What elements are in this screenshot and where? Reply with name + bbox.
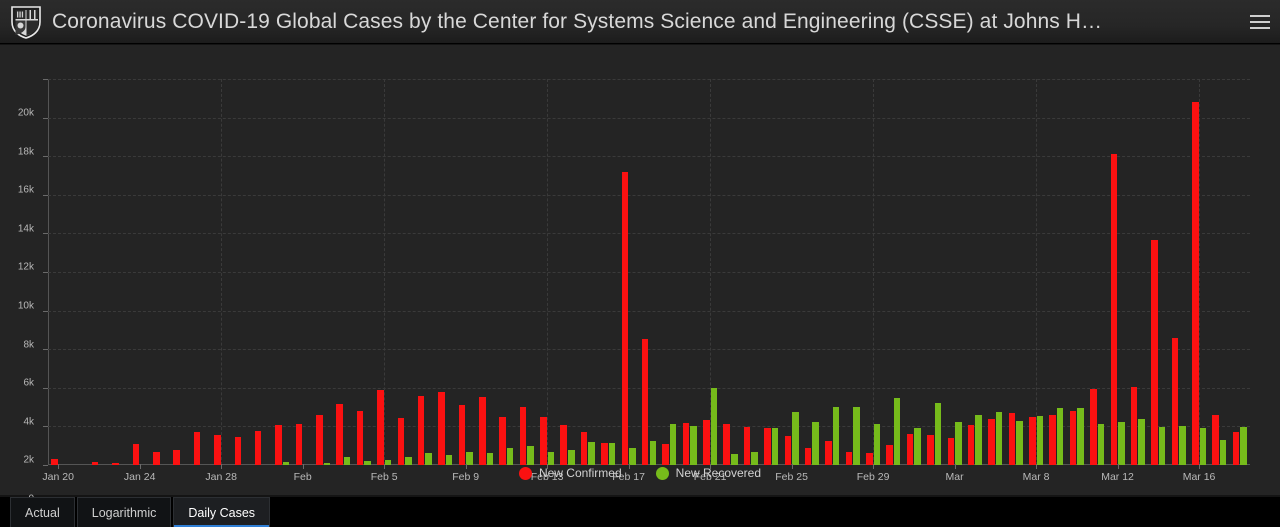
bar-new-confirmed[interactable] <box>275 425 282 465</box>
bar-new-confirmed[interactable] <box>1172 338 1179 465</box>
chart-plot-area[interactable] <box>48 79 1250 465</box>
bar-new-recovered[interactable] <box>1098 424 1105 465</box>
vertical-gridline <box>1199 79 1201 465</box>
vertical-gridline <box>221 79 223 465</box>
y-axis-tick-label: 16k <box>18 185 34 196</box>
y-axis-tick-label: 4k <box>23 416 34 427</box>
bar-new-confirmed[interactable] <box>1090 389 1097 465</box>
bar-new-recovered[interactable] <box>914 428 921 465</box>
bar-new-recovered[interactable] <box>975 415 982 465</box>
y-axis-tick-mark <box>43 156 48 157</box>
bar-new-confirmed[interactable] <box>1212 415 1219 465</box>
y-axis-tick-label: 10k <box>18 301 34 312</box>
y-axis-tick-mark <box>43 388 48 389</box>
bar-new-confirmed[interactable] <box>581 432 588 465</box>
bar-new-recovered[interactable] <box>1118 422 1125 465</box>
view-mode-tabbar: ActualLogarithmicDaily Cases <box>0 497 1280 527</box>
legend-label: New Confirmed <box>539 466 622 480</box>
bar-new-confirmed[interactable] <box>968 425 975 465</box>
y-axis-labels: 02k4k6k8k10k12k14k16k18k20k <box>0 79 44 465</box>
bar-new-recovered[interactable] <box>935 403 942 465</box>
bar-new-confirmed[interactable] <box>703 420 710 465</box>
legend-item[interactable]: New Confirmed <box>519 466 622 480</box>
bar-new-confirmed[interactable] <box>438 392 445 465</box>
vertical-gridline <box>547 79 549 465</box>
gridline <box>48 349 1250 351</box>
bar-new-confirmed[interactable] <box>357 411 364 465</box>
bar-new-confirmed[interactable] <box>988 419 995 465</box>
y-axis-tick-mark <box>43 272 48 273</box>
bar-new-recovered[interactable] <box>792 412 799 465</box>
chart-legend: New ConfirmedNew Recovered <box>0 462 1280 484</box>
bar-new-confirmed[interactable] <box>683 423 690 465</box>
page-title: Coronavirus COVID-19 Global Cases by the… <box>52 10 1240 34</box>
vertical-gridline <box>873 79 875 465</box>
legend-dot-confirmed <box>519 467 532 480</box>
gridline <box>48 388 1250 390</box>
bar-new-recovered[interactable] <box>670 424 677 465</box>
bar-new-confirmed[interactable] <box>1233 432 1240 465</box>
bar-new-recovered[interactable] <box>894 398 901 465</box>
y-axis-tick-mark <box>43 79 48 80</box>
bar-new-confirmed[interactable] <box>1009 413 1016 465</box>
y-axis-tick-mark <box>43 233 48 234</box>
bar-new-confirmed[interactable] <box>785 436 792 465</box>
bar-new-recovered[interactable] <box>833 407 840 465</box>
hamburger-menu-icon[interactable] <box>1240 0 1280 44</box>
bar-new-confirmed[interactable] <box>316 415 323 465</box>
y-axis-tick-label: 20k <box>18 108 34 119</box>
legend-item[interactable]: New Recovered <box>656 466 761 480</box>
bar-new-recovered[interactable] <box>812 422 819 465</box>
tab-logarithmic[interactable]: Logarithmic <box>77 497 172 527</box>
y-axis-tick-label: 8k <box>23 339 34 350</box>
bar-new-confirmed[interactable] <box>520 407 527 465</box>
bar-new-confirmed[interactable] <box>235 437 242 465</box>
bar-new-recovered[interactable] <box>853 407 860 465</box>
y-axis-tick-label: 18k <box>18 146 34 157</box>
gridline <box>48 272 1250 274</box>
bar-new-recovered[interactable] <box>955 422 962 465</box>
bar-new-recovered[interactable] <box>1138 419 1145 465</box>
legend-dot-recovered <box>656 467 669 480</box>
bar-new-confirmed[interactable] <box>560 425 567 465</box>
bar-new-confirmed[interactable] <box>214 435 221 465</box>
bar-new-confirmed[interactable] <box>622 172 629 465</box>
bar-new-confirmed[interactable] <box>540 417 547 465</box>
gridline <box>48 195 1250 197</box>
bar-new-confirmed[interactable] <box>1151 240 1158 465</box>
vertical-gridline <box>710 79 712 465</box>
bar-new-confirmed[interactable] <box>398 418 405 465</box>
bar-new-confirmed[interactable] <box>723 424 730 465</box>
bar-new-confirmed[interactable] <box>744 427 751 465</box>
jhu-shield-logo-icon <box>10 5 42 39</box>
y-axis-tick-label: 6k <box>23 378 34 389</box>
gridline <box>48 156 1250 158</box>
y-axis-tick-mark <box>43 118 48 119</box>
y-axis-tick-mark <box>43 195 48 196</box>
bar-new-recovered[interactable] <box>690 426 697 465</box>
bar-new-recovered[interactable] <box>1057 408 1064 465</box>
y-axis-tick-mark <box>43 349 48 350</box>
bar-new-recovered[interactable] <box>1159 427 1166 465</box>
gridline <box>48 311 1250 313</box>
bar-new-recovered[interactable] <box>996 412 1003 465</box>
bar-new-confirmed[interactable] <box>764 428 771 465</box>
bar-new-recovered[interactable] <box>1240 427 1247 465</box>
bar-new-confirmed[interactable] <box>1131 387 1138 465</box>
bar-new-confirmed[interactable] <box>459 405 466 465</box>
bar-new-confirmed[interactable] <box>1029 417 1036 465</box>
legend-label: New Recovered <box>676 466 761 480</box>
bar-new-confirmed[interactable] <box>927 435 934 465</box>
bar-new-confirmed[interactable] <box>948 438 955 465</box>
bar-new-confirmed[interactable] <box>1049 415 1056 465</box>
bar-new-confirmed[interactable] <box>1111 154 1118 465</box>
daily-cases-chart-panel: 02k4k6k8k10k12k14k16k18k20k Jan 20Jan 24… <box>0 45 1280 495</box>
bar-new-confirmed[interactable] <box>907 434 914 465</box>
bar-new-confirmed[interactable] <box>1070 411 1077 465</box>
bar-new-recovered[interactable] <box>1077 408 1084 465</box>
bar-new-confirmed[interactable] <box>642 339 649 465</box>
tab-daily-cases[interactable]: Daily Cases <box>173 497 270 527</box>
y-axis-tick-label: 14k <box>18 223 34 234</box>
app-header: Coronavirus COVID-19 Global Cases by the… <box>0 0 1280 44</box>
bar-new-recovered[interactable] <box>1179 426 1186 465</box>
bar-new-recovered[interactable] <box>772 428 779 465</box>
gridline <box>48 118 1250 120</box>
gridline <box>48 79 1250 81</box>
vertical-gridline <box>1036 79 1038 465</box>
y-axis-tick-label: 12k <box>18 262 34 273</box>
y-axis-tick-mark <box>43 426 48 427</box>
bar-new-confirmed[interactable] <box>194 432 201 465</box>
bar-new-confirmed[interactable] <box>1192 102 1199 465</box>
bar-new-recovered[interactable] <box>1016 421 1023 465</box>
vertical-gridline <box>384 79 386 465</box>
bar-new-confirmed[interactable] <box>377 390 384 465</box>
y-axis-tick-mark <box>43 311 48 312</box>
bar-new-confirmed[interactable] <box>499 417 506 465</box>
bar-new-confirmed[interactable] <box>296 424 303 465</box>
bar-new-confirmed[interactable] <box>479 397 486 466</box>
tab-actual[interactable]: Actual <box>10 497 75 527</box>
bar-new-confirmed[interactable] <box>255 431 262 465</box>
gridline <box>48 233 1250 235</box>
bar-new-confirmed[interactable] <box>336 404 343 465</box>
bar-new-confirmed[interactable] <box>418 396 425 465</box>
